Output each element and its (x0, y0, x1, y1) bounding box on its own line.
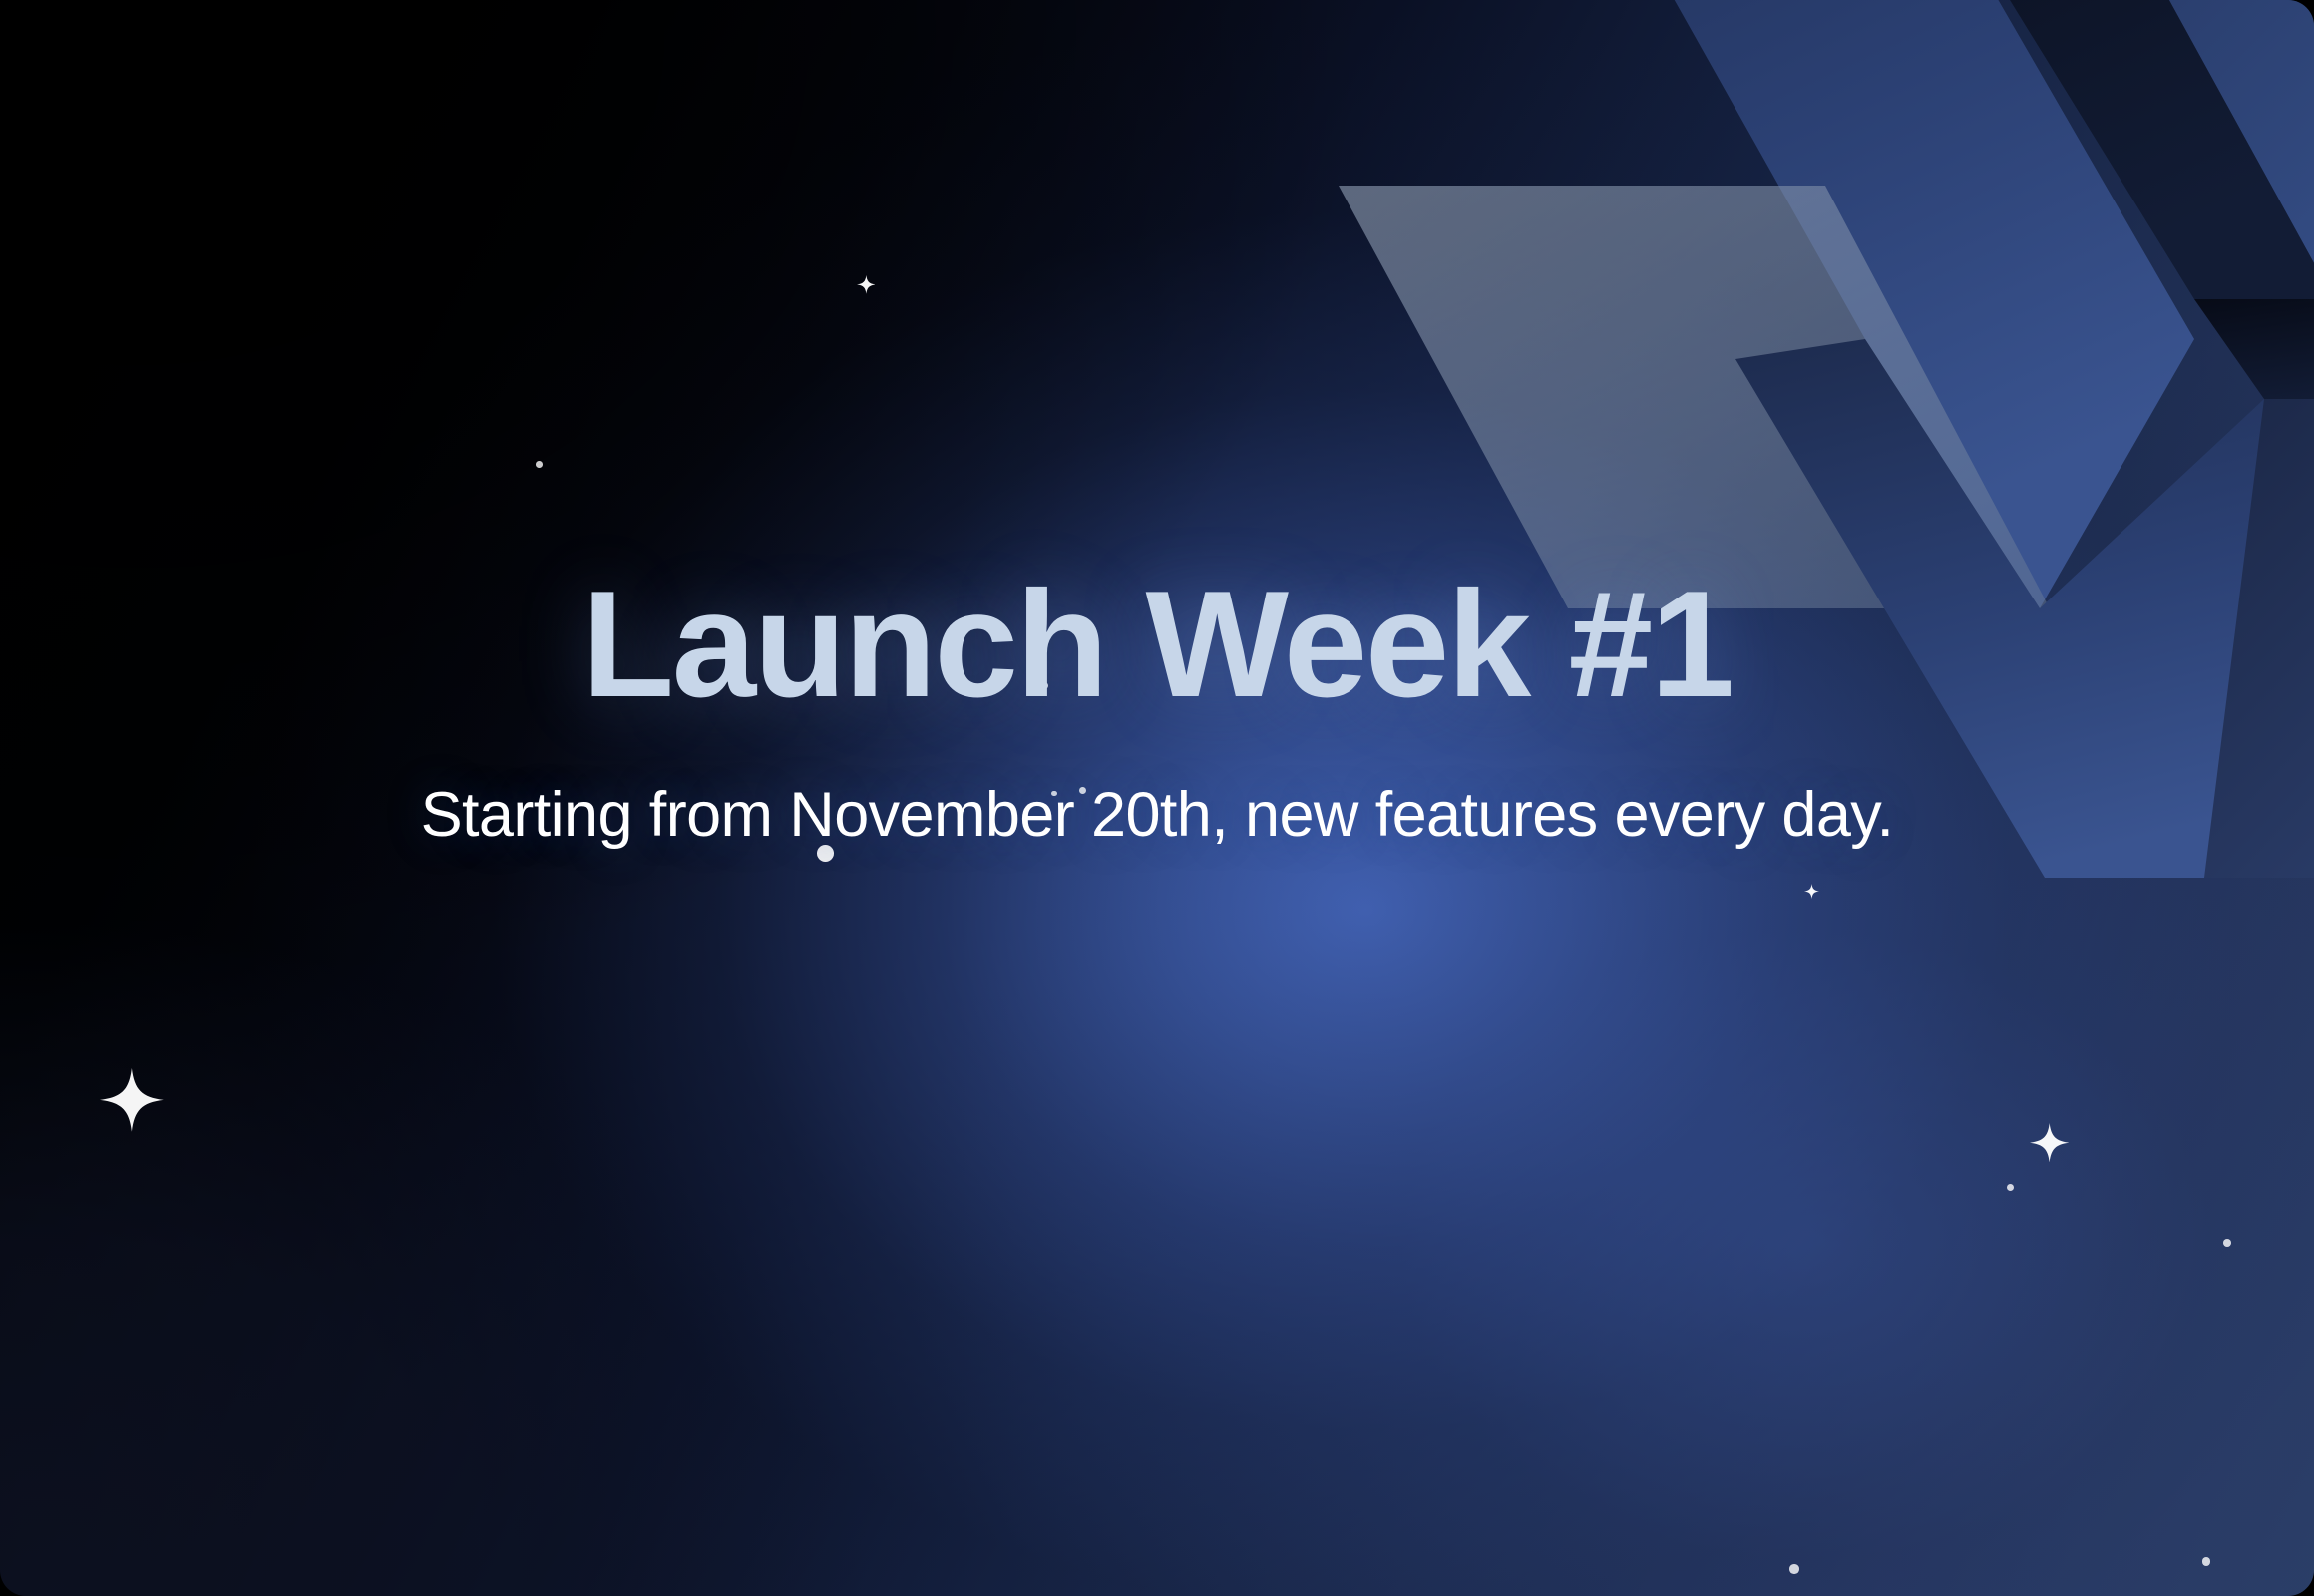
page-subtitle: Starting from November 20th, new feature… (421, 778, 1894, 854)
hero-content: Launch Week #1 Starting from November 20… (0, 0, 2314, 1596)
launch-week-hero-banner: Launch Week #1 Starting from November 20… (0, 0, 2314, 1596)
page-title: Launch Week #1 (581, 569, 1732, 720)
